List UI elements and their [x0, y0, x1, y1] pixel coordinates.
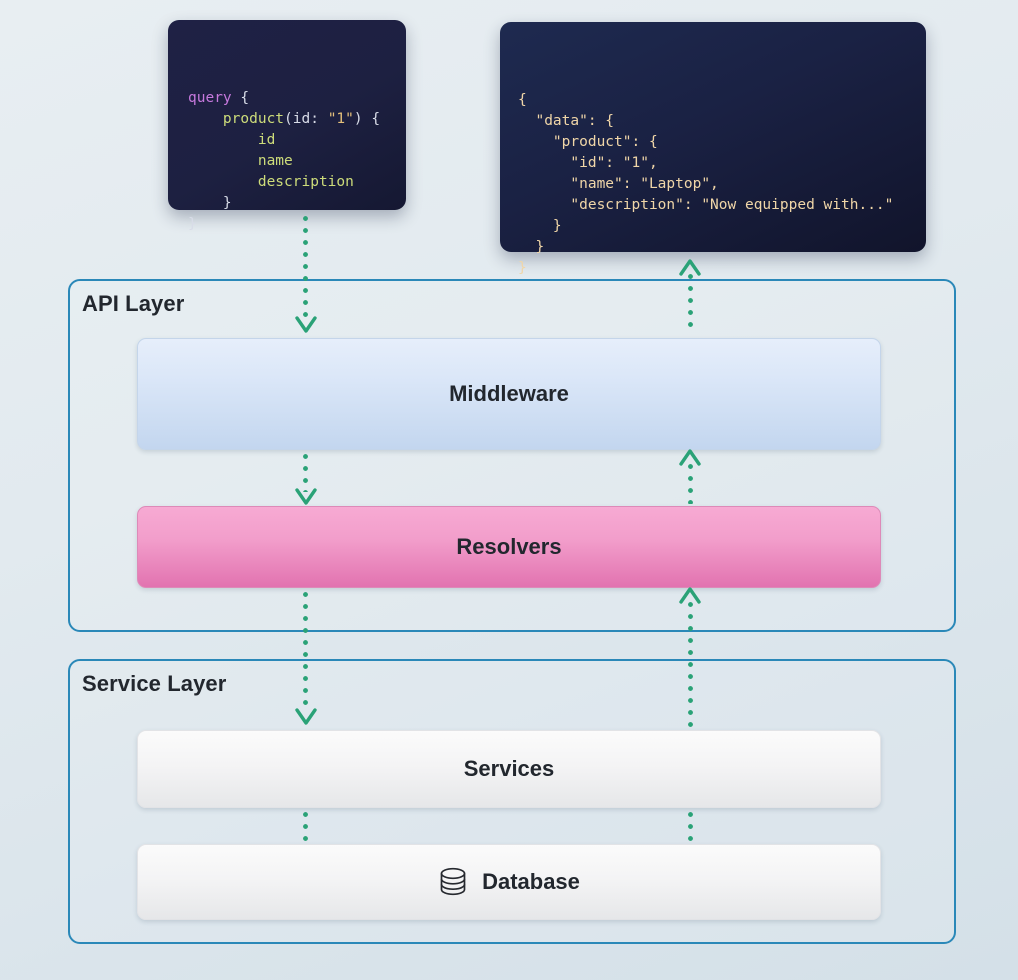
connector-resolvers-to-middleware [688, 464, 693, 504]
arrowhead-down-middleware [294, 316, 318, 334]
node-resolvers[interactable]: Resolvers [137, 506, 881, 588]
arrowhead-down-services [294, 708, 318, 726]
connector-services-to-database [303, 812, 308, 844]
graphql-response-panel: { "data": { "product": { "id": "1", "nam… [500, 22, 926, 252]
code-line: } [188, 193, 406, 214]
code-line: name [188, 151, 406, 172]
code-line: query { [188, 88, 406, 109]
code-line: description [188, 172, 406, 193]
connector-middleware-to-response [688, 274, 693, 332]
connector-query-to-middleware [303, 216, 308, 320]
code-line: "name": "Laptop", [518, 174, 926, 195]
node-middleware-label: Middleware [449, 381, 569, 407]
node-services-label: Services [464, 756, 555, 782]
code-line: id [188, 130, 406, 151]
service-layer-title: Service Layer [82, 671, 226, 697]
node-middleware[interactable]: Middleware [137, 338, 881, 450]
code-line: } [518, 258, 926, 279]
database-icon [438, 866, 468, 898]
api-layer-title: API Layer [82, 291, 184, 317]
code-line: "product": { [518, 132, 926, 153]
response-code-block: { "data": { "product": { "id": "1", "nam… [518, 90, 926, 279]
node-database[interactable]: Database [137, 844, 881, 920]
code-line: { [518, 90, 926, 111]
code-line: "id": "1", [518, 153, 926, 174]
code-line: product(id: "1") { [188, 109, 406, 130]
connector-resolvers-to-services [303, 592, 308, 712]
code-line: } [188, 214, 406, 235]
graphql-query-panel: query { product(id: "1") { id name descr… [168, 20, 406, 210]
node-resolvers-label: Resolvers [456, 534, 561, 560]
code-line: "description": "Now equipped with..." [518, 195, 926, 216]
node-services[interactable]: Services [137, 730, 881, 808]
connector-middleware-to-resolvers [303, 454, 308, 492]
arrowhead-down-resolvers [294, 488, 318, 506]
connector-database-to-services [688, 812, 693, 844]
code-line: } [518, 216, 926, 237]
code-line: } [518, 237, 926, 258]
node-database-label: Database [482, 869, 580, 895]
connector-services-to-resolvers [688, 602, 693, 728]
query-code-block: query { product(id: "1") { id name descr… [188, 88, 406, 235]
code-line: "data": { [518, 111, 926, 132]
diagram-canvas: query { product(id: "1") { id name descr… [0, 0, 1018, 980]
